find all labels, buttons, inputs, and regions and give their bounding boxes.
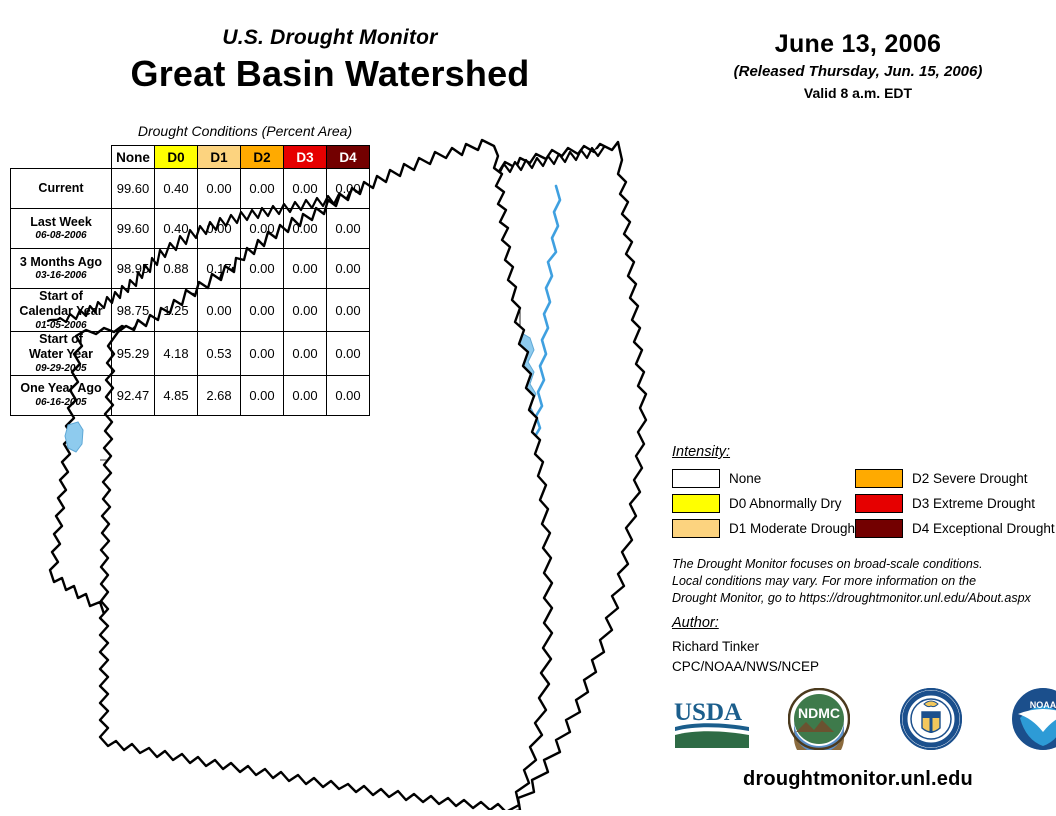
cell-d3: 0.00	[284, 289, 327, 332]
legend-label: D0 Abnormally Dry	[729, 496, 842, 511]
cell-d2: 0.00	[241, 209, 284, 249]
row-label-date: 06-08-2006	[11, 230, 111, 242]
column-header-d3: D3	[284, 146, 327, 169]
row-label: 3 Months Ago03-16-2006	[11, 249, 112, 289]
cell-none: 98.95	[112, 249, 155, 289]
row-label-text: 3 Months Ago	[20, 255, 102, 269]
cell-d2: 0.00	[241, 169, 284, 209]
cell-d2: 0.00	[241, 375, 284, 415]
intensity-heading: Intensity:	[672, 444, 730, 460]
legend-label: D3 Extreme Drought	[912, 496, 1035, 511]
disclaimer: The Drought Monitor focuses on broad-sca…	[672, 556, 1052, 607]
legend-column-left: NoneD0 Abnormally DryD1 Moderate Drought	[672, 466, 859, 541]
row-label-date: 01-05-2006	[11, 320, 111, 332]
cell-d4: 0.00	[327, 249, 370, 289]
legend-item-left-0: None	[672, 466, 859, 491]
svg-text:NDMC: NDMC	[798, 705, 840, 721]
table-row: 3 Months Ago03-16-200698.950.880.170.000…	[11, 249, 370, 289]
cell-d3: 0.00	[284, 332, 327, 375]
date-block: June 13, 2006 (Released Thursday, Jun. 1…	[660, 30, 1056, 101]
row-label-date: 06-16-2005	[11, 397, 111, 409]
cell-d4: 0.00	[327, 332, 370, 375]
author-heading: Author:	[672, 615, 719, 631]
cell-d4: 0.00	[327, 209, 370, 249]
legend-label: D2 Severe Drought	[912, 471, 1028, 486]
svg-text:NOAA: NOAA	[1030, 700, 1056, 710]
cell-d3: 0.00	[284, 249, 327, 289]
agency-logos: USDA NDMC	[660, 688, 1056, 758]
legend-item-right-2: D4 Exceptional Drought	[855, 516, 1055, 541]
row-label-date: 03-16-2006	[11, 270, 111, 282]
row-label-text: Start ofCalendar Year	[19, 289, 102, 318]
valid-date: June 13, 2006	[660, 30, 1056, 59]
cell-d3: 0.00	[284, 169, 327, 209]
legend-swatch	[672, 519, 720, 538]
cell-d1: 0.17	[198, 249, 241, 289]
legend-item-right-0: D2 Severe Drought	[855, 466, 1055, 491]
cell-none: 92.47	[112, 375, 155, 415]
cell-d2: 0.00	[241, 249, 284, 289]
disclaimer-line-1: The Drought Monitor focuses on broad-sca…	[672, 556, 1052, 573]
row-label-text: Current	[38, 181, 83, 195]
table-row: Start ofCalendar Year01-05-200698.751.25…	[11, 289, 370, 332]
legend-swatch	[855, 469, 903, 488]
row-label-date: 09-29-2005	[11, 363, 111, 375]
table-caption: Drought Conditions (Percent Area)	[110, 123, 380, 139]
column-header-d1: D1	[198, 146, 241, 169]
cell-d1: 2.68	[198, 375, 241, 415]
cell-d2: 0.00	[241, 289, 284, 332]
row-label: Current	[11, 169, 112, 209]
legend-item-left-2: D1 Moderate Drought	[672, 516, 859, 541]
usda-logo: USDA	[672, 694, 752, 750]
row-label: Start ofCalendar Year01-05-2006	[11, 289, 112, 332]
drought-conditions-table: None D0 D1 D2 D3 D4 Current99.600.400.00…	[10, 145, 370, 416]
row-label: One Year Ago06-16-2005	[11, 375, 112, 415]
legend-swatch	[672, 494, 720, 513]
cell-d4: 0.00	[327, 375, 370, 415]
released-date: (Released Thursday, Jun. 15, 2006)	[660, 63, 1056, 80]
author-affiliation: CPC/NOAA/NWS/NCEP	[672, 657, 819, 677]
cell-d0: 4.18	[155, 332, 198, 375]
cell-d1: 0.00	[198, 209, 241, 249]
cell-d0: 4.85	[155, 375, 198, 415]
legend-column-right: D2 Severe DroughtD3 Extreme DroughtD4 Ex…	[855, 466, 1055, 541]
header-spacer	[11, 146, 112, 169]
table-body: Current99.600.400.000.000.000.00Last Wee…	[11, 169, 370, 416]
map-title-block: U.S. Drought Monitor Great Basin Watersh…	[0, 26, 660, 95]
table-row: Current99.600.400.000.000.000.00	[11, 169, 370, 209]
table-row: Last Week06-08-200699.600.400.000.000.00…	[11, 209, 370, 249]
cell-d1: 0.00	[198, 169, 241, 209]
cell-d4: 0.00	[327, 289, 370, 332]
legend-item-right-1: D3 Extreme Drought	[855, 491, 1055, 516]
row-label: Last Week06-08-2006	[11, 209, 112, 249]
cell-none: 95.29	[112, 332, 155, 375]
cell-none: 99.60	[112, 209, 155, 249]
cell-none: 99.60	[112, 169, 155, 209]
column-header-d0: D0	[155, 146, 198, 169]
ndmc-logo: NDMC	[788, 688, 850, 750]
website-url[interactable]: droughtmonitor.unl.edu	[660, 768, 1056, 791]
cell-d2: 0.00	[241, 332, 284, 375]
legend-label: None	[729, 471, 761, 486]
table-header-row: None D0 D1 D2 D3 D4	[11, 146, 370, 169]
legend-swatch	[672, 469, 720, 488]
column-header-d2: D2	[241, 146, 284, 169]
svg-text:USDA: USDA	[674, 699, 742, 726]
row-label-text: Last Week	[30, 215, 92, 229]
cell-d0: 0.88	[155, 249, 198, 289]
author-name: Richard Tinker	[672, 637, 819, 657]
valid-time: Valid 8 a.m. EDT	[660, 85, 1056, 101]
cell-d0: 1.25	[155, 289, 198, 332]
cell-d1: 0.00	[198, 289, 241, 332]
cell-none: 98.75	[112, 289, 155, 332]
disclaimer-line-3: Drought Monitor, go to https://droughtmo…	[672, 590, 1052, 607]
column-header-d4: D4	[327, 146, 370, 169]
cell-d1: 0.53	[198, 332, 241, 375]
row-label: Start ofWater Year09-29-2005	[11, 332, 112, 375]
map-subtitle: U.S. Drought Monitor	[0, 26, 660, 50]
legend-swatch	[855, 494, 903, 513]
noaa-logo: NOAA	[1012, 688, 1056, 750]
table-row: Start ofWater Year09-29-200595.294.180.5…	[11, 332, 370, 375]
cell-d0: 0.40	[155, 209, 198, 249]
row-label-text: One Year Ago	[20, 381, 101, 395]
page-title: Great Basin Watershed	[0, 53, 660, 95]
legend-label: D4 Exceptional Drought	[912, 521, 1055, 536]
legend-label: D1 Moderate Drought	[729, 521, 859, 536]
cell-d3: 0.00	[284, 209, 327, 249]
table-row: One Year Ago06-16-200592.474.852.680.000…	[11, 375, 370, 415]
author-info: Richard Tinker CPC/NOAA/NWS/NCEP	[672, 637, 819, 676]
cell-d3: 0.00	[284, 375, 327, 415]
usdc-seal	[900, 688, 962, 750]
disclaimer-line-2: Local conditions may vary. For more info…	[672, 573, 1052, 590]
row-label-text: Start ofWater Year	[29, 332, 93, 361]
cell-d4: 0.00	[327, 169, 370, 209]
legend-swatch	[855, 519, 903, 538]
drought-monitor-page: U.S. Drought Monitor Great Basin Watersh…	[0, 0, 1056, 816]
cell-d0: 0.40	[155, 169, 198, 209]
column-header-none: None	[112, 146, 155, 169]
legend-item-left-1: D0 Abnormally Dry	[672, 491, 859, 516]
